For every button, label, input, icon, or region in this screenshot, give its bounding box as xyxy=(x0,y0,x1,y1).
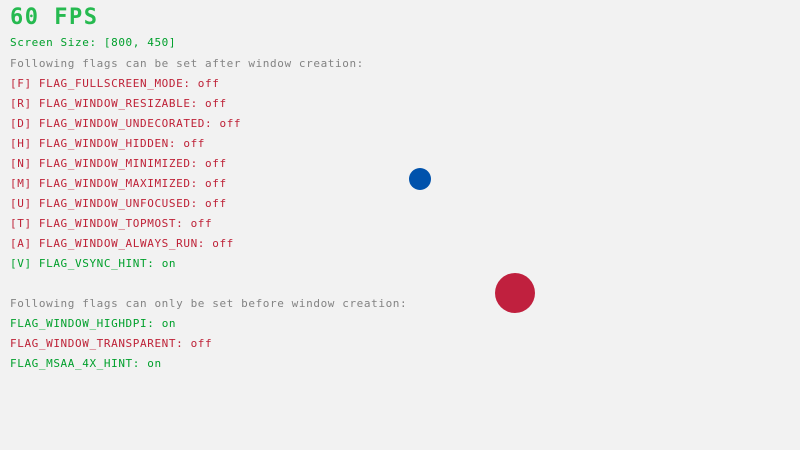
flag-hotkey: [U] xyxy=(10,197,39,210)
heading-flags-before-creation: Following flags can only be set before w… xyxy=(10,298,407,310)
flag-value: off xyxy=(212,237,234,250)
flag-row-before-1[interactable]: FLAG_WINDOW_TRANSPARENT: off xyxy=(10,338,212,350)
flag-row-before-0[interactable]: FLAG_WINDOW_HIGHDPI: on xyxy=(10,318,176,330)
flag-name: FLAG_WINDOW_MAXIMIZED: xyxy=(39,177,205,190)
flag-value: off xyxy=(191,217,213,230)
flag-value: on xyxy=(162,257,176,270)
flag-value: off xyxy=(205,157,227,170)
flag-hotkey: [R] xyxy=(10,97,39,110)
flag-hotkey: [A] xyxy=(10,237,39,250)
fps-counter: 60 FPS xyxy=(10,5,98,31)
flag-row-after-4[interactable]: [N] FLAG_WINDOW_MINIMIZED: off xyxy=(10,158,227,170)
flag-hotkey: [F] xyxy=(10,77,39,90)
flag-name: FLAG_WINDOW_ALWAYS_RUN: xyxy=(39,237,212,250)
flag-value: off xyxy=(191,337,213,350)
heading-flags-after-creation: Following flags can be set after window … xyxy=(10,58,364,70)
flag-name: FLAG_WINDOW_UNDECORATED: xyxy=(39,117,220,130)
blue-circle xyxy=(409,168,431,190)
flag-value: off xyxy=(198,77,220,90)
flag-name: FLAG_WINDOW_HIGHDPI: xyxy=(10,317,162,330)
flag-row-after-3[interactable]: [H] FLAG_WINDOW_HIDDEN: off xyxy=(10,138,205,150)
flag-value: on xyxy=(147,357,161,370)
flag-row-after-8[interactable]: [A] FLAG_WINDOW_ALWAYS_RUN: off xyxy=(10,238,234,250)
flag-row-after-2[interactable]: [D] FLAG_WINDOW_UNDECORATED: off xyxy=(10,118,241,130)
flag-hotkey: [M] xyxy=(10,177,39,190)
flag-value: off xyxy=(205,197,227,210)
flag-row-after-6[interactable]: [U] FLAG_WINDOW_UNFOCUSED: off xyxy=(10,198,227,210)
flag-name: FLAG_WINDOW_RESIZABLE: xyxy=(39,97,205,110)
flag-name: FLAG_WINDOW_TOPMOST: xyxy=(39,217,191,230)
flag-row-before-2[interactable]: FLAG_MSAA_4X_HINT: on xyxy=(10,358,162,370)
flag-row-after-9[interactable]: [V] FLAG_VSYNC_HINT: on xyxy=(10,258,176,270)
flag-name: FLAG_WINDOW_HIDDEN: xyxy=(39,137,183,150)
flag-value: on xyxy=(162,317,176,330)
flag-name: FLAG_VSYNC_HINT: xyxy=(39,257,162,270)
flag-value: off xyxy=(183,137,205,150)
screen-size-label: Screen Size: [800, 450] xyxy=(10,37,176,49)
flag-hotkey: [V] xyxy=(10,257,39,270)
flag-row-after-0[interactable]: [F] FLAG_FULLSCREEN_MODE: off xyxy=(10,78,219,90)
flag-name: FLAG_WINDOW_TRANSPARENT: xyxy=(10,337,191,350)
flag-name: FLAG_WINDOW_MINIMIZED: xyxy=(39,157,205,170)
flag-name: FLAG_WINDOW_UNFOCUSED: xyxy=(39,197,205,210)
flag-hotkey: [T] xyxy=(10,217,39,230)
flag-row-after-1[interactable]: [R] FLAG_WINDOW_RESIZABLE: off xyxy=(10,98,227,110)
flag-row-after-7[interactable]: [T] FLAG_WINDOW_TOPMOST: off xyxy=(10,218,212,230)
raylib-window-canvas: 60 FPS Screen Size: [800, 450] Following… xyxy=(0,0,800,450)
flag-value: off xyxy=(205,177,227,190)
flag-hotkey: [N] xyxy=(10,157,39,170)
flag-value: off xyxy=(219,117,241,130)
flag-hotkey: [D] xyxy=(10,117,39,130)
flag-row-after-5[interactable]: [M] FLAG_WINDOW_MAXIMIZED: off xyxy=(10,178,227,190)
flag-name: FLAG_FULLSCREEN_MODE: xyxy=(39,77,198,90)
flag-name: FLAG_MSAA_4X_HINT: xyxy=(10,357,147,370)
flag-value: off xyxy=(205,97,227,110)
red-circle xyxy=(495,273,535,313)
flag-hotkey: [H] xyxy=(10,137,39,150)
